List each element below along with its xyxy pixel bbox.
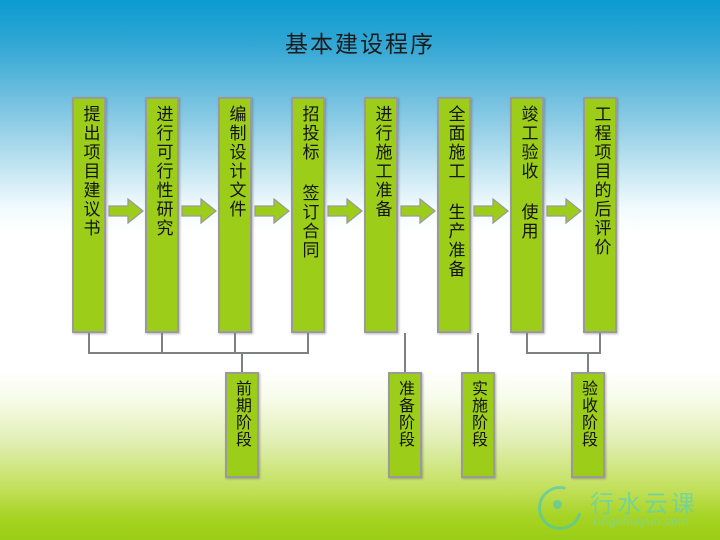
connector-stub-step7 [526,333,528,352]
stage-box-3[interactable]: 实施阶段 [461,372,495,478]
stage-box-3-label: 实施阶段 [470,374,486,448]
stage-box-1-label: 前期阶段 [234,374,250,448]
arrow-right-icon-1 [108,198,144,224]
process-box-4-label: 招投标 签订合同 [300,99,317,260]
page-title: 基本建设程序 [0,25,720,59]
connector-stub-step8 [599,333,601,352]
connector-drop-stage4 [587,352,589,372]
stage-box-2-label: 准备阶段 [397,374,413,448]
process-box-3[interactable]: 编制设计文件 [218,97,252,333]
connector-drop-stage2 [404,333,406,372]
arrow-right-icon-3 [254,198,290,224]
arrow-right-icon-2 [181,198,217,224]
watermark-url: xingshuiyun.com [592,514,689,528]
stage-box-4[interactable]: 验收阶段 [571,372,605,478]
process-box-1[interactable]: 提出项目建议书 [72,97,106,333]
process-box-8-label: 工程项目的后评价 [592,99,609,257]
process-box-3-label: 编制设计文件 [227,99,244,219]
process-box-4[interactable]: 招投标 签订合同 [291,97,325,333]
stage-box-1[interactable]: 前期阶段 [225,372,259,478]
connector-bracket-stage1 [88,352,309,354]
process-box-8[interactable]: 工程项目的后评价 [583,97,617,333]
arrow-right-icon-7 [546,198,582,224]
stage-box-4-label: 验收阶段 [580,374,596,448]
process-box-2-label: 进行可行性研究 [154,99,171,238]
process-box-7[interactable]: 竣工验收 使用 [510,97,544,333]
process-box-5-label: 进行施工准备 [373,99,390,219]
connector-stub-step3 [234,333,236,352]
arrow-right-icon-6 [473,198,509,224]
connector-stub-step4 [307,333,309,352]
process-box-2[interactable]: 进行可行性研究 [145,97,179,333]
process-box-6[interactable]: 全面施工 生产准备 [437,97,471,333]
arrow-right-icon-5 [400,198,436,224]
stage-box-2[interactable]: 准备阶段 [388,372,422,478]
process-box-1-label: 提出项目建议书 [81,99,98,238]
process-box-6-label: 全面施工 生产准备 [446,99,463,279]
connector-stub-step1 [88,333,90,352]
watermark: 行水云课 xingshuiyun.com [536,480,714,536]
connector-drop-stage3 [477,333,479,372]
slide-canvas: 基本建设程序 提出项目建议书 进行可行性研究 编制设计文件 招投标 签订合同 进… [0,0,720,540]
process-box-7-label: 竣工验收 使用 [519,99,536,241]
connector-bracket-stage4 [526,352,601,354]
wave-logo-dot-icon [553,500,562,509]
process-box-5[interactable]: 进行施工准备 [364,97,398,333]
arrow-right-icon-4 [327,198,363,224]
connector-drop-stage1 [241,352,243,372]
connector-stub-step2 [161,333,163,352]
